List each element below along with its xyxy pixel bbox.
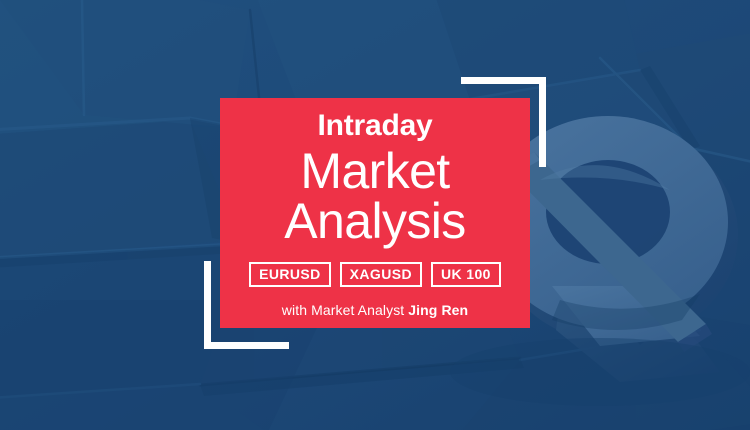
title-card: Intraday Market Analysis EURUSD XAGUSD U… (220, 98, 530, 328)
title-line-analysis: Analysis (284, 197, 465, 247)
instrument-badge-xagusd[interactable]: XAGUSD (340, 262, 422, 287)
analyst-name: Jing Ren (408, 302, 468, 318)
instrument-badge-list: EURUSD XAGUSD UK 100 (249, 262, 501, 287)
bracket-vertical-bar (204, 261, 211, 349)
title-line-market: Market (300, 147, 449, 197)
promo-banner: Intraday Market Analysis EURUSD XAGUSD U… (0, 0, 750, 430)
kicker-intraday: Intraday (317, 111, 432, 141)
bracket-horizontal-bar (204, 342, 289, 349)
byline-prefix: with Market Analyst (282, 302, 409, 318)
byline: with Market Analyst Jing Ren (282, 302, 468, 318)
bracket-horizontal-bar (461, 77, 546, 84)
bracket-vertical-bar (539, 77, 546, 167)
instrument-badge-uk100[interactable]: UK 100 (431, 262, 501, 287)
instrument-badge-eurusd[interactable]: EURUSD (249, 262, 331, 287)
